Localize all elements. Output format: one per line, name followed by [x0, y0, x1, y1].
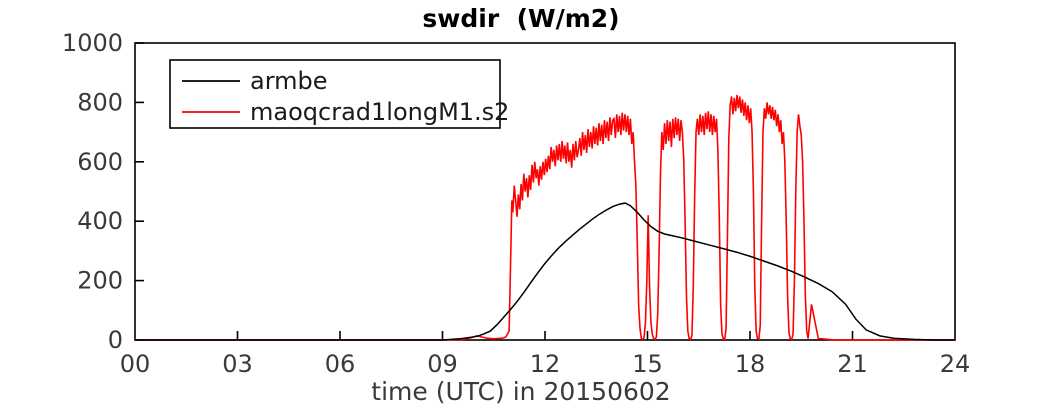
x-tick-label: 06 [325, 350, 356, 378]
plot-area: 02004006008001000 000306091215182124 arm… [0, 0, 1042, 417]
x-tick-label: 03 [222, 350, 253, 378]
y-tick-label: 800 [77, 88, 123, 116]
x-tick-label: 21 [837, 350, 868, 378]
legend-label-armbe: armbe [250, 67, 328, 95]
y-axis-ticks: 02004006008001000 [62, 29, 144, 354]
figure-canvas: swdir (W/m2) 02004006008001000 000306091… [0, 0, 1042, 417]
legend-label-maoqcrad: maoqcrad1longM1.s2 [250, 98, 509, 126]
x-tick-label: 18 [735, 350, 766, 378]
series-line-armbe [135, 203, 955, 340]
x-tick-label: 00 [120, 350, 151, 378]
y-tick-label: 1000 [62, 29, 123, 57]
x-axis-ticks: 000306091215182124 [120, 331, 971, 378]
x-tick-label: 24 [940, 350, 971, 378]
x-tick-label: 09 [427, 350, 458, 378]
series-line-maoqcrad1longM1-s2 [135, 95, 955, 340]
x-tick-label: 12 [530, 350, 561, 378]
y-tick-label: 600 [77, 148, 123, 176]
x-axis-title: time (UTC) in 20150602 [0, 377, 1042, 406]
x-tick-label: 15 [632, 350, 663, 378]
legend: armbe maoqcrad1longM1.s2 [170, 60, 509, 128]
y-tick-label: 400 [77, 207, 123, 235]
y-tick-label: 200 [77, 267, 123, 295]
